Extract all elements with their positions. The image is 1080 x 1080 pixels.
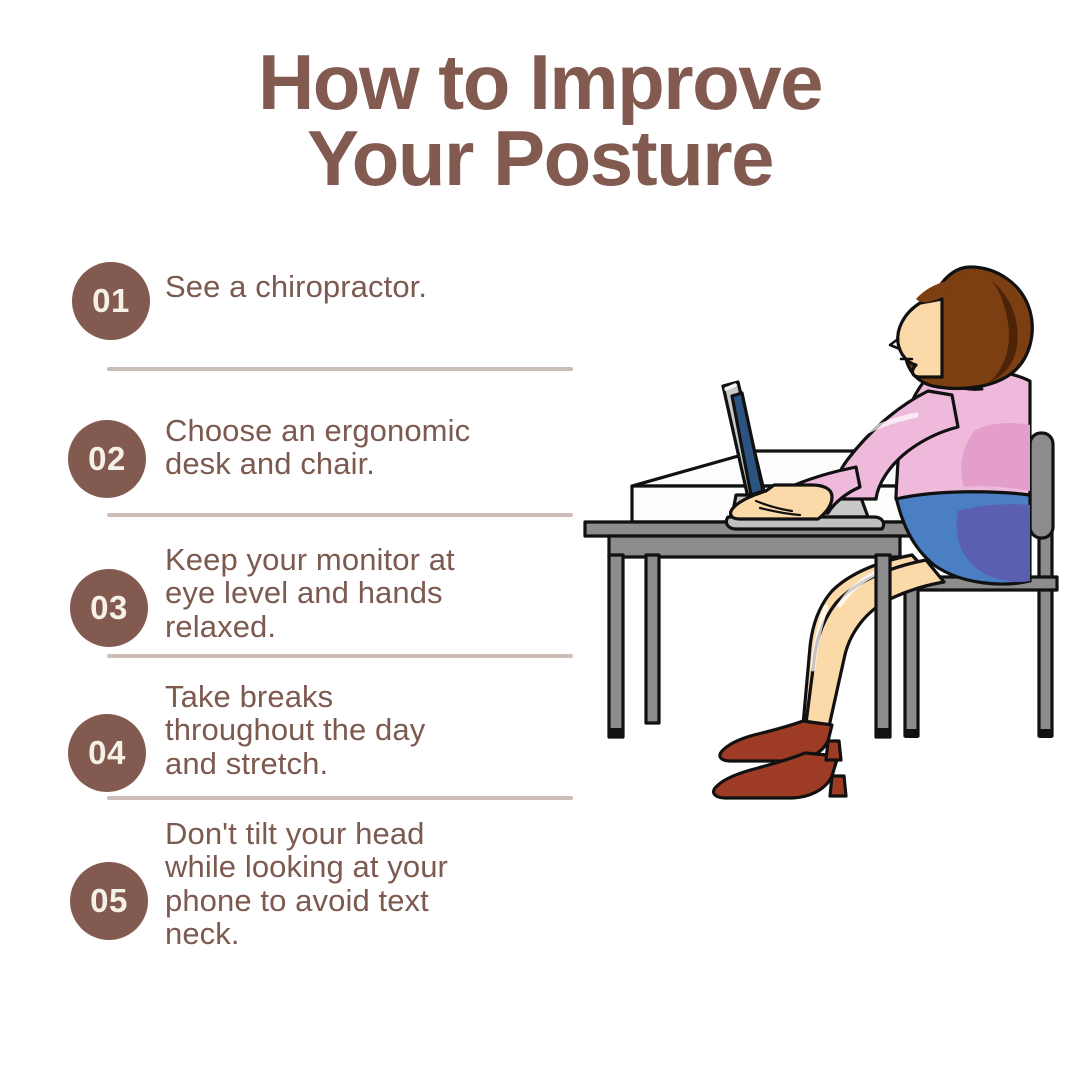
page-title-line-1: How to Improve [0, 44, 1080, 120]
list-item-text: Take breaks throughout the day and stret… [165, 680, 565, 780]
list-item-text: Keep your monitor at eye level and hands… [165, 543, 565, 643]
list-item-number-badge: 05 [70, 862, 148, 940]
tips-list: 01 See a chiropractor. 02 Choose an ergo… [0, 248, 600, 968]
page-title: How to Improve Your Posture [0, 44, 1080, 197]
list-divider [107, 367, 573, 371]
list-item-text: Don't tilt your head while looking at yo… [165, 817, 565, 951]
illustration-woman-at-desk [560, 255, 1080, 880]
shoes [714, 721, 846, 798]
legs [803, 555, 944, 731]
list-item-number-badge: 03 [70, 569, 148, 647]
list-item-number-badge: 02 [68, 420, 146, 498]
page-title-line-2: Your Posture [0, 120, 1080, 196]
list-divider [107, 513, 573, 517]
list-item-number-badge: 01 [72, 262, 150, 340]
list-item-number-badge: 04 [68, 714, 146, 792]
woman-at-desk-illustration-svg [560, 255, 1080, 880]
list-item-text: Choose an ergonomic desk and chair. [165, 414, 565, 481]
list-divider [107, 654, 573, 658]
list-divider [107, 796, 573, 800]
head [890, 267, 1032, 388]
infographic-canvas: How to Improve Your Posture 01 See a chi… [0, 0, 1080, 1080]
list-item-text: See a chiropractor. [165, 270, 565, 303]
